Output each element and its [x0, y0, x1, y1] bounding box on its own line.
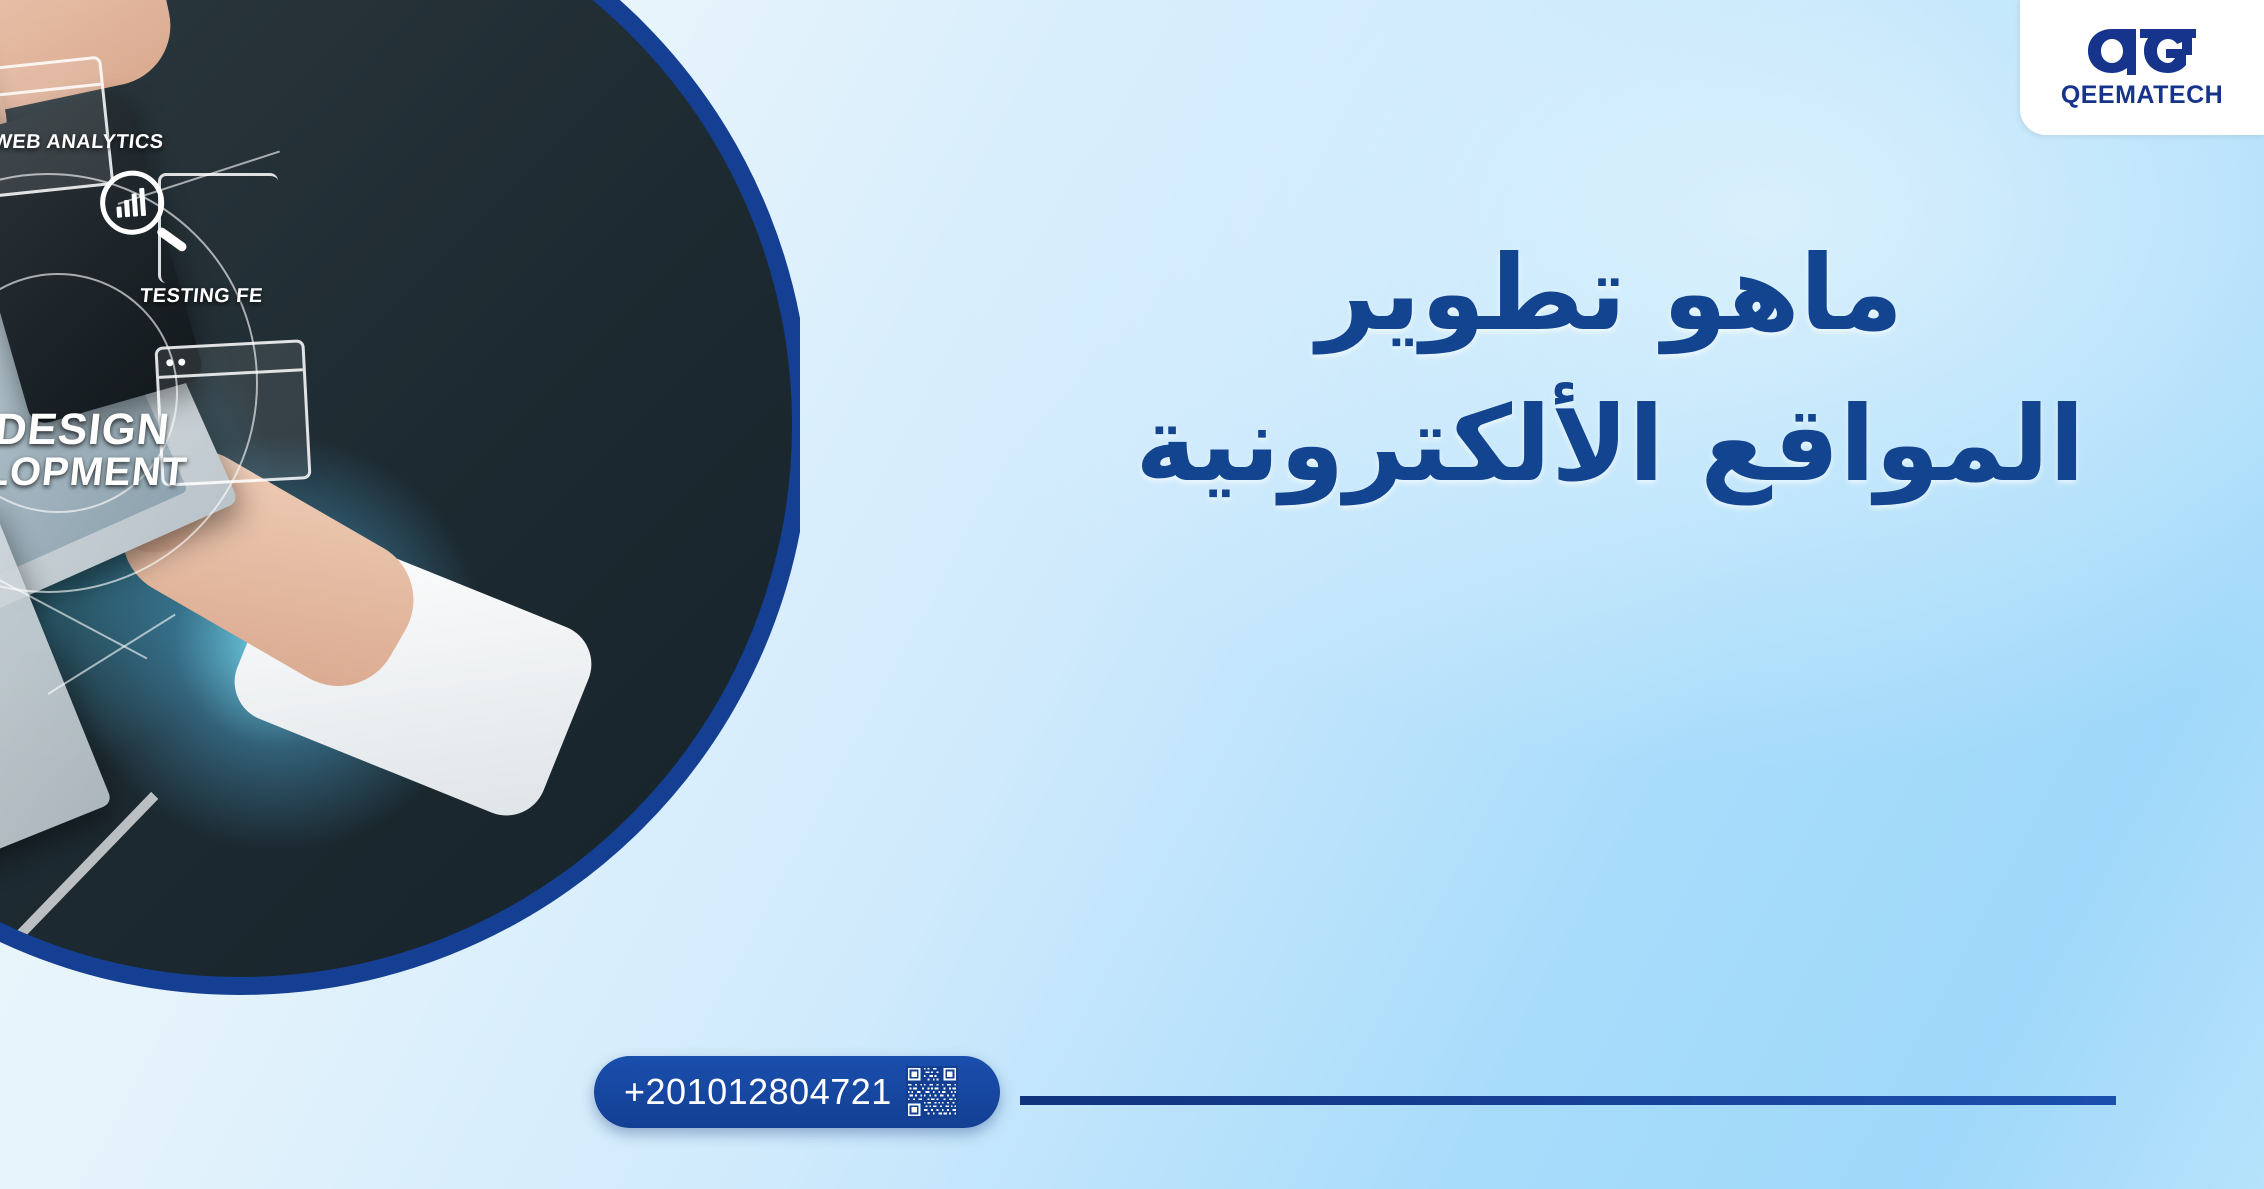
testing-titlebar [158, 342, 303, 379]
bar-chart-icon [115, 188, 146, 218]
hero-photo-clip: </> [0, 0, 800, 1189]
photo-label-web-analytics: WEB ANALYTICS [0, 131, 165, 154]
photo-label-web-design-line2: DEVELOPMENT [0, 452, 189, 492]
browser-window-icon [0, 56, 114, 201]
phone-number: +201012804721 [624, 1071, 892, 1113]
testing-dot [178, 358, 185, 365]
photo-label-testing: TESTING FE [139, 285, 264, 308]
testing-bracket-icon [158, 173, 278, 283]
photo-label-apps-develop: APPS DEVELOP [0, 989, 59, 995]
testing-dot [166, 359, 173, 366]
headline-line-1: ماهو تطوير [1060, 218, 2160, 369]
qr-code-icon[interactable] [906, 1066, 958, 1118]
divider-rule [1020, 1096, 2116, 1105]
headline-line-2: المواقع الألكترونية [1060, 369, 2160, 520]
brand-tagline: WE ADD A NEW VALUE [2258, 85, 2264, 505]
brand-wordmark: QEEMATECH [2061, 81, 2223, 110]
photo-label-web-design-line1: WEB DESIGN [0, 408, 194, 452]
promo-banner: </> [0, 0, 2264, 1189]
photo-label-web-design: WEB DESIGN DEVELOPMENT [0, 408, 194, 492]
brand-logo[interactable]: QEEMATECH [2020, 0, 2264, 135]
browser-titlebar [0, 59, 101, 101]
hero-photo-circle: </> [0, 0, 800, 995]
hero-photo: </> [0, 0, 800, 1189]
page-title: ماهو تطوير المواقع الألكترونية [1060, 218, 2160, 520]
phone-cta-button[interactable]: +201012804721 [594, 1056, 1000, 1128]
qg-monogram-icon [2082, 25, 2202, 79]
